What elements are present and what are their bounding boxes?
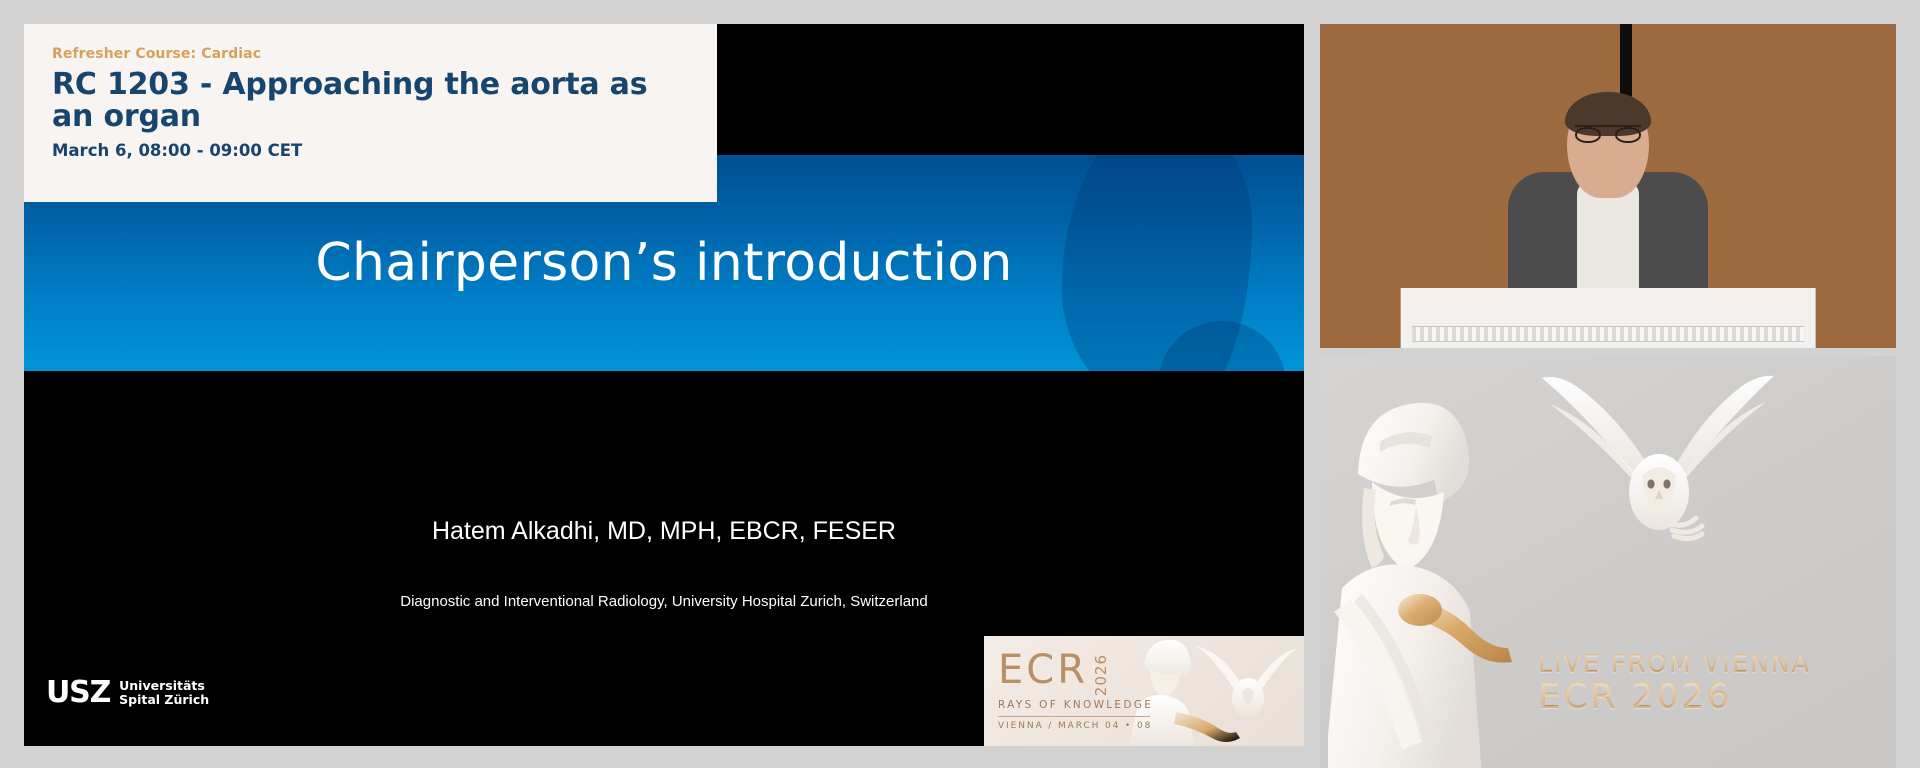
presenter-affiliation: Diagnostic and Interventional Radiology,…	[24, 593, 1304, 610]
ecr-badge-divider	[998, 716, 1150, 717]
lectern-trim	[1412, 326, 1804, 342]
slide-body: Hatem Alkadhi, MD, MPH, EBCR, FESER Diag…	[24, 371, 1304, 746]
session-title: RC 1203 - Approaching the aorta as an or…	[52, 69, 689, 133]
ecr-badge-dates: VIENNA / MARCH 04 • 08	[998, 721, 1153, 731]
session-viewer-stage: Chairperson’s introduction Hatem Alkadhi…	[0, 0, 1920, 768]
ecr-badge-main: ECR 2026	[998, 652, 1153, 696]
usz-logo: USZ Universitäts Spital Zürich	[46, 678, 209, 708]
usz-logo-text: Universitäts Spital Zürich	[119, 679, 209, 708]
ecr-conference-badge: ECR 2026 RAYS OF KNOWLEDGE VIENNA / MARC…	[984, 636, 1304, 746]
speaker-glasses-icon	[1575, 125, 1641, 144]
ecr-badge-title: ECR	[998, 652, 1088, 689]
ecr-badge-text: ECR 2026 RAYS OF KNOWLEDGE VIENNA / MARC…	[998, 652, 1153, 731]
ecr-badge-year: 2026	[1092, 654, 1110, 696]
owl-icon	[1520, 364, 1790, 574]
ecr-2026-label: ECR 2026	[1538, 679, 1811, 716]
session-info-card: Refresher Course: Cardiac RC 1203 - Appr…	[24, 24, 717, 202]
usz-logo-line-1: Universitäts	[119, 679, 209, 693]
live-from-vienna-label: LIVE FROM VIENNA	[1538, 651, 1811, 677]
live-branding-text: LIVE FROM VIENNA ECR 2026	[1538, 651, 1811, 716]
event-branding-panel: LIVE FROM VIENNA ECR 2026	[1320, 356, 1896, 768]
session-course-kicker: Refresher Course: Cardiac	[52, 46, 689, 62]
ecr-badge-tagline: RAYS OF KNOWLEDGE	[998, 699, 1153, 711]
speaker-video-panel[interactable]	[1320, 24, 1896, 348]
usz-logo-line-2: Spital Zürich	[119, 693, 209, 707]
session-time: March 6, 08:00 - 09:00 CET	[52, 141, 689, 160]
usz-wordmark: USZ	[46, 678, 110, 708]
presenter-name: Hatem Alkadhi, MD, MPH, EBCR, FESER	[24, 517, 1304, 546]
